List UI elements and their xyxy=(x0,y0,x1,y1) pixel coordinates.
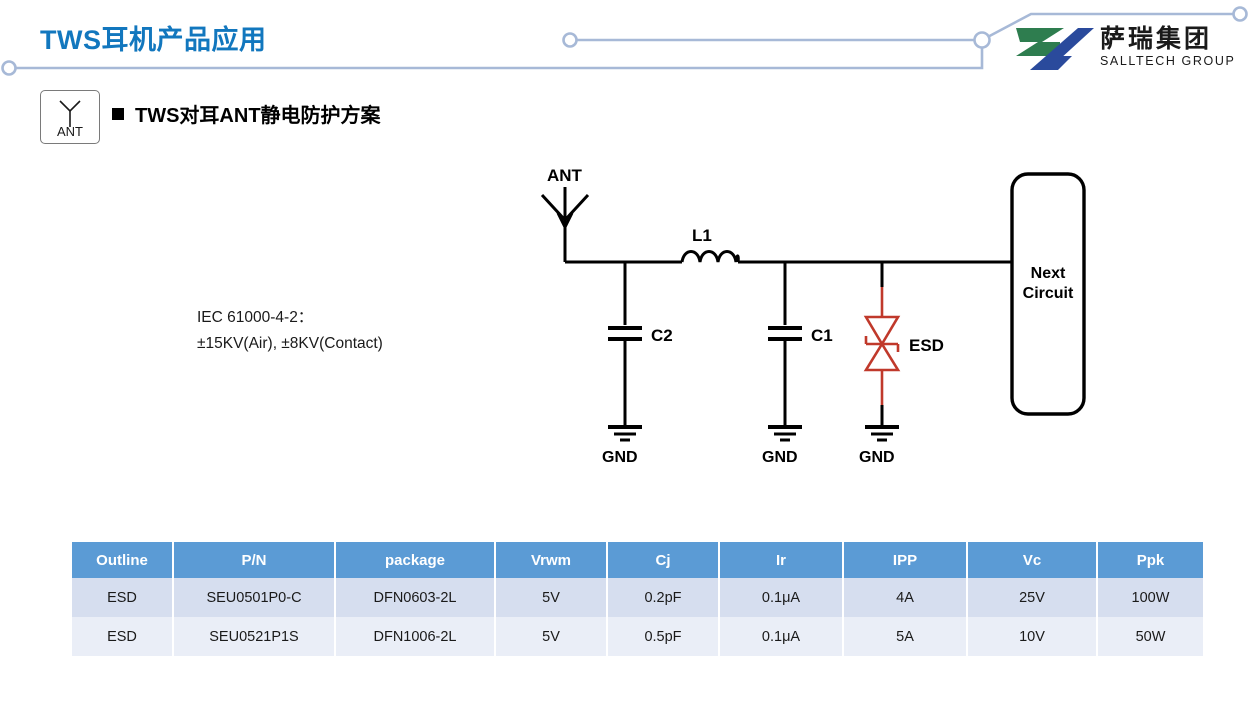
gnd-label-1: GND xyxy=(602,449,638,466)
cell-cj: 0.5pF xyxy=(608,617,718,656)
next-circuit-line1: Next xyxy=(1031,265,1066,282)
column-header-ipp: IPP xyxy=(844,542,966,578)
salltech-logo-mark xyxy=(1012,26,1094,72)
cell-pn: SEU0501P0-C xyxy=(174,578,334,617)
table-header-row: Outline P/N package Vrwm Cj Ir IPP Vc Pp… xyxy=(72,542,1203,578)
logo-english-name: SALLTECH GROUP xyxy=(1100,54,1250,69)
cell-ir: 0.1μA xyxy=(720,578,842,617)
iec-note-line1: IEC 61000-4-2： xyxy=(197,305,383,331)
column-header-ir: Ir xyxy=(720,542,842,578)
column-header-ppk: Ppk xyxy=(1098,542,1203,578)
ant-badge-label: ANT xyxy=(41,124,99,139)
cell-ipp: 4A xyxy=(844,578,966,617)
cell-ir: 0.1μA xyxy=(720,617,842,656)
next-circuit-block: Next Circuit xyxy=(1012,174,1084,414)
table-row: ESD SEU0501P0-C DFN0603-2L 5V 0.2pF 0.1μ… xyxy=(72,578,1203,617)
next-circuit-line2: Circuit xyxy=(1023,285,1074,302)
capacitor-c2-label: C2 xyxy=(651,326,673,345)
column-header-vrwm: Vrwm xyxy=(496,542,606,578)
cell-vrwm: 5V xyxy=(496,578,606,617)
ant-badge: ANT xyxy=(40,90,100,144)
table-row: ESD SEU0521P1S DFN1006-2L 5V 0.5pF 0.1μA… xyxy=(72,617,1203,656)
column-header-package: package xyxy=(336,542,494,578)
cell-pn: SEU0521P1S xyxy=(174,617,334,656)
antenna-symbol xyxy=(542,187,588,227)
inductor-label: L1 xyxy=(692,226,712,245)
antenna-label: ANT xyxy=(547,166,583,185)
cell-outline: ESD xyxy=(72,617,172,656)
cell-package: DFN1006-2L xyxy=(336,617,494,656)
esd-label: ESD xyxy=(909,336,944,355)
iec-note-line2: ±15KV(Air), ±8KV(Contact) xyxy=(197,331,383,357)
esd-protection-circuit-diagram: ANT L1 C2 GND C1 GND xyxy=(520,165,1120,485)
square-bullet-icon xyxy=(112,108,124,120)
section-heading-label: TWS对耳ANT静电防护方案 xyxy=(135,99,381,128)
cell-vc: 25V xyxy=(968,578,1096,617)
inductor-symbol xyxy=(682,252,738,263)
company-logo: 萨瑞集团 SALLTECH GROUP xyxy=(1012,24,1250,76)
column-header-pn: P/N xyxy=(174,542,334,578)
capacitor-c2-branch xyxy=(608,262,642,440)
cell-vrwm: 5V xyxy=(496,617,606,656)
column-header-outline: Outline xyxy=(72,542,172,578)
column-header-vc: Vc xyxy=(968,542,1096,578)
spec-table: Outline P/N package Vrwm Cj Ir IPP Vc Pp… xyxy=(70,542,1205,656)
cell-ipp: 5A xyxy=(844,617,966,656)
antenna-icon xyxy=(55,97,85,127)
cell-package: DFN0603-2L xyxy=(336,578,494,617)
capacitor-c1-label: C1 xyxy=(811,326,833,345)
cell-ppk: 100W xyxy=(1098,578,1203,617)
esd-diode-branch xyxy=(865,262,899,440)
gnd-label-3: GND xyxy=(859,449,895,466)
column-header-cj: Cj xyxy=(608,542,718,578)
iec-standard-note: IEC 61000-4-2： ±15KV(Air), ±8KV(Contact) xyxy=(197,305,383,357)
page-title: TWS耳机产品应用 xyxy=(40,18,267,57)
capacitor-c1-branch xyxy=(768,262,802,440)
cell-ppk: 50W xyxy=(1098,617,1203,656)
section-heading: TWS对耳ANT静电防护方案 xyxy=(112,99,381,128)
gnd-label-2: GND xyxy=(762,449,798,466)
logo-chinese-name: 萨瑞集团 xyxy=(1100,24,1250,54)
cell-vc: 10V xyxy=(968,617,1096,656)
cell-cj: 0.2pF xyxy=(608,578,718,617)
cell-outline: ESD xyxy=(72,578,172,617)
